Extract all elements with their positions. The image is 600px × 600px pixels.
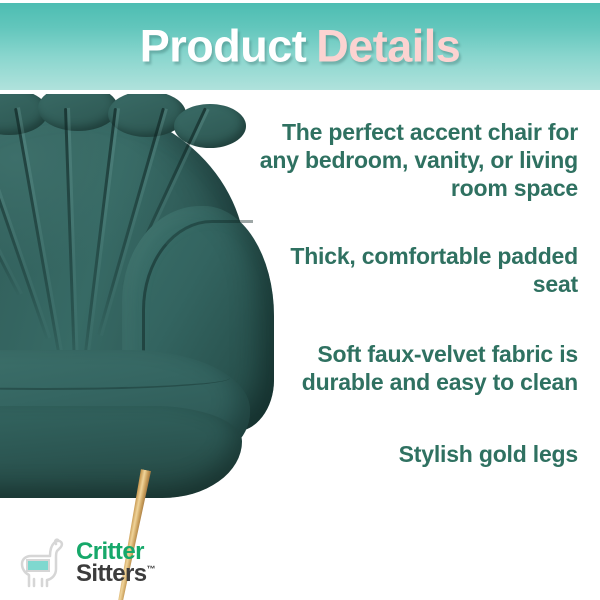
- trademark-symbol: ™: [147, 564, 155, 574]
- chair-base-apron: [0, 406, 242, 498]
- feature-item: Soft faux-velvet fabric is durable and e…: [248, 340, 578, 396]
- logo-wordmark: Critter Sitters™: [76, 541, 155, 585]
- brand-logo: Critter Sitters™: [14, 538, 155, 588]
- logo-word-sitters: Sitters™: [76, 563, 155, 585]
- chair-scallop: [174, 104, 246, 148]
- feature-item: Stylish gold legs: [248, 440, 578, 468]
- chair-seat-seam: [0, 366, 230, 390]
- chair-channel-seam: [14, 108, 63, 372]
- page-title-word-details: Details: [316, 20, 460, 71]
- page-title-word-product: Product: [140, 20, 307, 71]
- header-banner: ProductDetails: [0, 3, 600, 90]
- feature-list: The perfect accent chair for any bedroom…: [248, 118, 578, 468]
- feature-item: Thick, comfortable padded seat: [248, 242, 578, 298]
- llama-icon: [14, 538, 70, 588]
- logo-word-sitters-text: Sitters: [76, 560, 147, 587]
- page-title: ProductDetails: [0, 23, 600, 68]
- chair-channel-seam: [64, 108, 77, 386]
- accent-chair-illustration: [0, 102, 290, 572]
- product-details-image: ProductDetails: [0, 0, 600, 600]
- feature-item: The perfect accent chair for any bedroom…: [248, 118, 578, 202]
- chair-scallop: [38, 94, 118, 131]
